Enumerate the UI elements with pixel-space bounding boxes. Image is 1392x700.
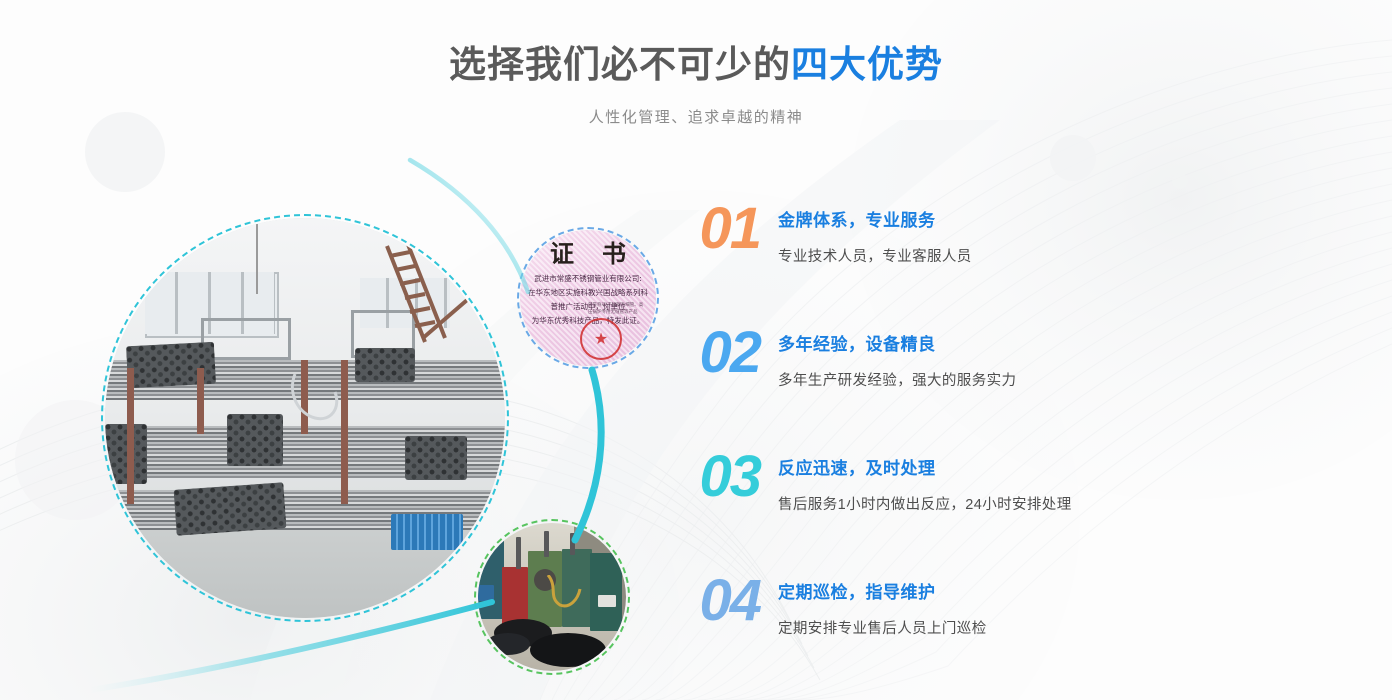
page-subtitle: 人性化管理、追求卓越的精神	[0, 106, 1392, 127]
advantages-list: 01 金牌体系，专业服务 专业技术人员，专业客服人员 02 多年经验，设备精良 …	[650, 200, 1350, 696]
advantages-section: 选择我们必不可少的四大优势 人性化管理、追求卓越的精神	[0, 0, 1392, 700]
advantage-item[interactable]: 01 金牌体系，专业服务 专业技术人员，专业客服人员	[650, 200, 1350, 324]
advantage-number: 01	[650, 200, 778, 258]
advantage-number: 04	[650, 572, 778, 630]
advantage-number: 02	[650, 324, 778, 382]
machine-photo-ring	[474, 519, 630, 675]
advantage-description: 专业技术人员，专业客服人员	[778, 245, 972, 266]
advantage-title: 定期巡检，指导维护	[778, 578, 987, 603]
advantage-description: 定期安排专业售后人员上门巡检	[778, 617, 987, 638]
advantage-title: 多年经验，设备精良	[778, 330, 1016, 355]
advantage-item[interactable]: 04 定期巡检，指导维护 定期安排专业售后人员上门巡检	[650, 572, 1350, 696]
advantage-item[interactable]: 03 反应迅速，及时处理 售后服务1小时内做出反应，24小时安排处理	[650, 448, 1350, 572]
page-title-highlight: 四大优势	[791, 44, 943, 85]
advantage-title: 金牌体系，专业服务	[778, 206, 972, 231]
section-header: 选择我们必不可少的四大优势 人性化管理、追求卓越的精神	[0, 42, 1392, 127]
advantage-description: 多年生产研发经验，强大的服务实力	[778, 369, 1016, 390]
advantage-item[interactable]: 02 多年经验，设备精良 多年生产研发经验，强大的服务实力	[650, 324, 1350, 448]
decor-circle-2	[1050, 135, 1096, 181]
advantage-description: 售后服务1小时内做出反应，24小时安排处理	[778, 493, 1072, 514]
advantage-title: 反应迅速，及时处理	[778, 454, 1072, 479]
page-title-plain: 选择我们必不可少的	[449, 44, 791, 85]
page-title: 选择我们必不可少的四大优势	[0, 42, 1392, 88]
advantage-number: 03	[650, 448, 778, 506]
decor-circle-3	[1172, 173, 1188, 189]
warehouse-photo-ring	[101, 214, 509, 622]
certificate-photo-ring	[517, 227, 659, 369]
